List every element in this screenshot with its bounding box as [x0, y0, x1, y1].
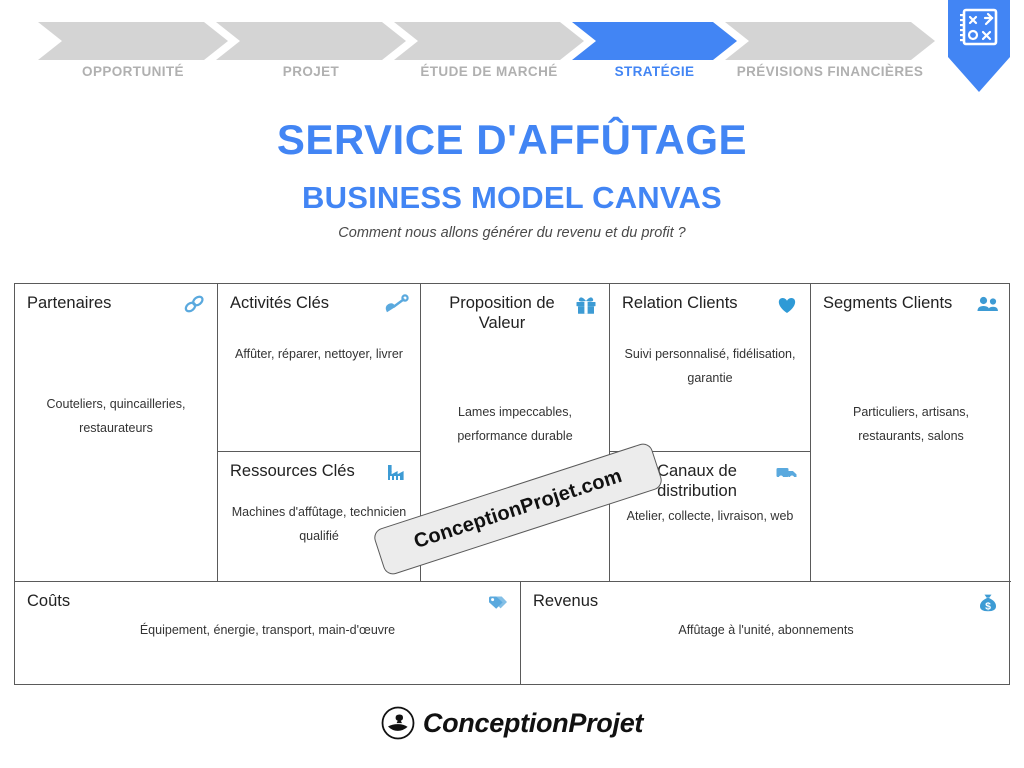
page-subtitle: BUSINESS MODEL CANVAS	[0, 180, 1024, 216]
gift-icon	[573, 293, 599, 317]
money-bag-icon: $	[975, 591, 1001, 615]
canvas-block-title: Partenaires	[27, 293, 205, 313]
canvas-block-segments-clients[interactable]: Segments Clients Particuliers, artisans,…	[811, 284, 1011, 582]
canvas-block-header: Activités Clés	[218, 293, 420, 313]
factory-icon	[384, 461, 410, 485]
stepper-step-label: OPPORTUNITÉ	[82, 64, 184, 79]
canvas-block-title: Coûts	[27, 591, 508, 611]
page-tagline: Comment nous allons générer du revenu et…	[0, 225, 1024, 241]
canvas-block-title: Relation Clients	[622, 293, 798, 313]
canvas-block-header: Relation Clients	[610, 293, 810, 313]
progress-stepper: OPPORTUNITÉ PROJET ÉTUDE DE MARCHÉ STRAT…	[0, 0, 1024, 105]
canvas-block-relation-clients[interactable]: Relation Clients Suivi personnalisé, fid…	[610, 284, 811, 452]
canvas-block-title: Activités Clés	[230, 293, 408, 313]
canvas-block-body: Affûter, réparer, nettoyer, livrer	[228, 342, 410, 366]
canvas-block-title: Segments Clients	[823, 293, 999, 313]
heart-icon	[774, 293, 800, 317]
canvas-block-body: Couteliers, quincailleries, restaurateur…	[25, 392, 207, 441]
canvas-block-header: Partenaires	[15, 293, 217, 313]
canvas-block-partenaires[interactable]: Partenaires Couteliers, quincailleries, …	[15, 284, 218, 582]
conception-projet-logo-icon	[381, 706, 415, 740]
title-block: SERVICE D'AFFÛTAGE BUSINESS MODEL CANVAS…	[0, 118, 1024, 241]
stepper-arrow-shape	[216, 22, 406, 60]
footer-branding: ConceptionProjet	[0, 706, 1024, 740]
stepper-step-label: PRÉVISIONS FINANCIÈRES	[737, 64, 924, 79]
stepper-step-label: STRATÉGIE	[615, 64, 695, 79]
canvas-block-header: Ressources Clés	[218, 461, 420, 481]
canvas-block-activites-cles[interactable]: Activités Clés Affûter, réparer, nettoye…	[218, 284, 421, 452]
shovel-icon	[384, 293, 410, 317]
price-tag-icon	[484, 591, 510, 615]
stepper-arrow-shape	[572, 22, 737, 60]
stepper-step-label: ÉTUDE DE MARCHÉ	[420, 64, 557, 79]
stepper-step-previsions-financieres[interactable]: PRÉVISIONS FINANCIÈRES	[725, 22, 935, 60]
canvas-block-couts[interactable]: Coûts Équipement, énergie, transport, ma…	[15, 582, 521, 684]
stepper-arrow-shape	[725, 22, 935, 60]
canvas-block-header: Proposition de Valeur	[421, 293, 609, 333]
strategy-playbook-glyph	[959, 8, 999, 50]
page-title: SERVICE D'AFFÛTAGE	[0, 118, 1024, 162]
canvas-block-body: Suivi personnalisé, fidélisation, garant…	[620, 342, 800, 391]
truck-icon	[774, 461, 800, 485]
stepper-step-strategie[interactable]: STRATÉGIE	[572, 22, 737, 60]
canvas-block-header: Segments Clients	[811, 293, 1011, 313]
stepper-step-projet[interactable]: PROJET	[216, 22, 406, 60]
stepper-step-opportunite[interactable]: OPPORTUNITÉ	[38, 22, 228, 60]
stepper-step-label: PROJET	[283, 64, 339, 79]
canvas-block-body: Lames impeccables, performance durable	[431, 400, 599, 449]
business-model-canvas-grid: Partenaires Couteliers, quincailleries, …	[14, 283, 1010, 685]
canvas-block-body: Particuliers, artisans, restaurants, sal…	[821, 400, 1001, 449]
users-icon	[975, 293, 1001, 317]
canvas-block-body: Atelier, collecte, livraison, web	[620, 504, 800, 528]
canvas-block-body: Équipement, énergie, transport, main-d'œ…	[55, 618, 480, 642]
canvas-block-revenus[interactable]: Revenus $ Affûtage à l'unité, abonnement…	[521, 582, 1011, 684]
footer-brand-text: ConceptionProjet	[423, 708, 643, 739]
strategy-playbook-icon	[948, 0, 1010, 92]
canvas-block-title: Ressources Clés	[230, 461, 408, 481]
canvas-block-body: Affûtage à l'unité, abonnements	[561, 618, 971, 642]
stepper-step-etude-de-marche[interactable]: ÉTUDE DE MARCHÉ	[394, 22, 584, 60]
chain-link-icon	[181, 293, 207, 317]
stepper-arrow-shape	[38, 22, 228, 60]
canvas-block-header: Revenus $	[521, 591, 1011, 611]
canvas-block-header: Coûts	[15, 591, 520, 611]
canvas-block-title: Revenus	[533, 591, 999, 611]
svg-text:$: $	[985, 601, 991, 613]
stepper-arrow-shape	[394, 22, 584, 60]
